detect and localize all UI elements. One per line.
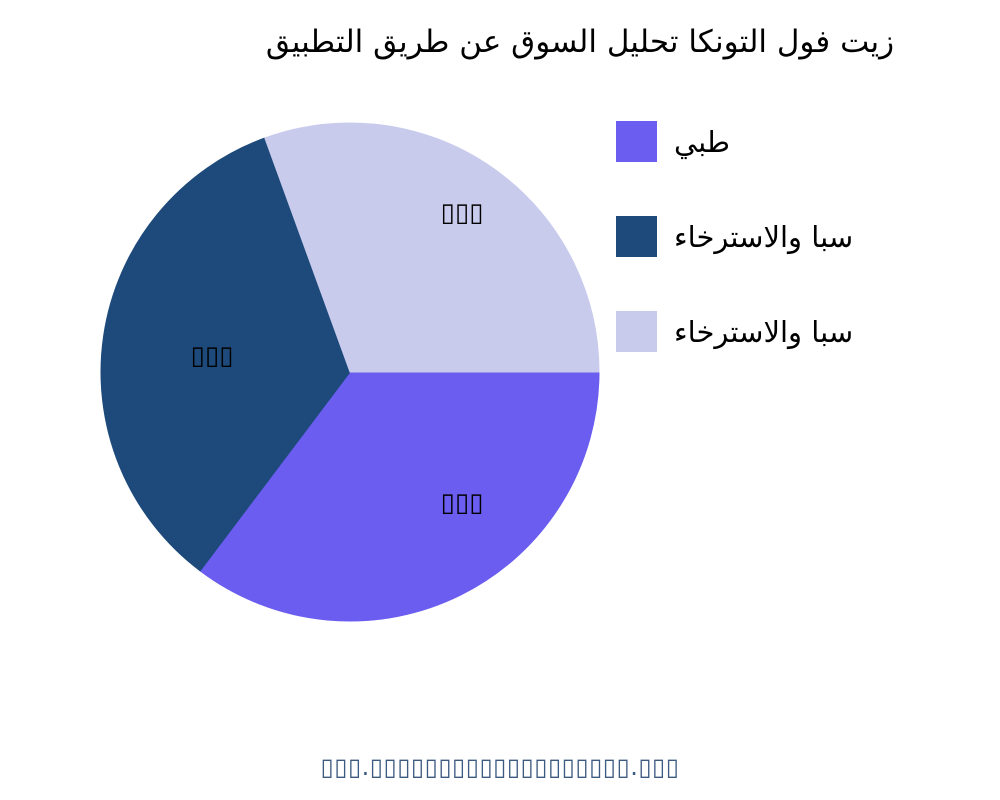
pie-slice-label-0: ▯▯▯ bbox=[441, 198, 484, 228]
legend: طبي سبا والاسترخاء سبا والاسترخاء bbox=[616, 112, 1000, 397]
pie-chart-svg: ▯▯▯▯▯▯▯▯▯ bbox=[0, 0, 640, 720]
legend-item-2[interactable]: سبا والاسترخاء bbox=[616, 302, 1000, 397]
pie-slice-label-1: ▯▯▯ bbox=[191, 341, 234, 371]
legend-swatch-2 bbox=[616, 311, 657, 352]
legend-label-1: سبا والاسترخاء bbox=[674, 207, 853, 267]
legend-item-1[interactable]: سبا والاسترخاء bbox=[616, 207, 1000, 302]
legend-swatch-0 bbox=[616, 121, 657, 162]
legend-label-2: سبا والاسترخاء bbox=[674, 302, 853, 362]
pie-slices bbox=[101, 123, 599, 621]
legend-swatch-1 bbox=[616, 216, 657, 257]
legend-item-0[interactable]: طبي bbox=[616, 112, 1000, 207]
pie-chart: ▯▯▯▯▯▯▯▯▯ bbox=[0, 0, 640, 720]
pie-slice-label-2: ▯▯▯ bbox=[441, 488, 484, 518]
legend-label-0: طبي bbox=[674, 112, 730, 172]
footer-watermark: ▯▯▯.▯▯▯▯▯▯▯▯▯▯▯▯▯▯▯▯▯▯▯.▯▯▯ bbox=[0, 753, 1000, 781]
